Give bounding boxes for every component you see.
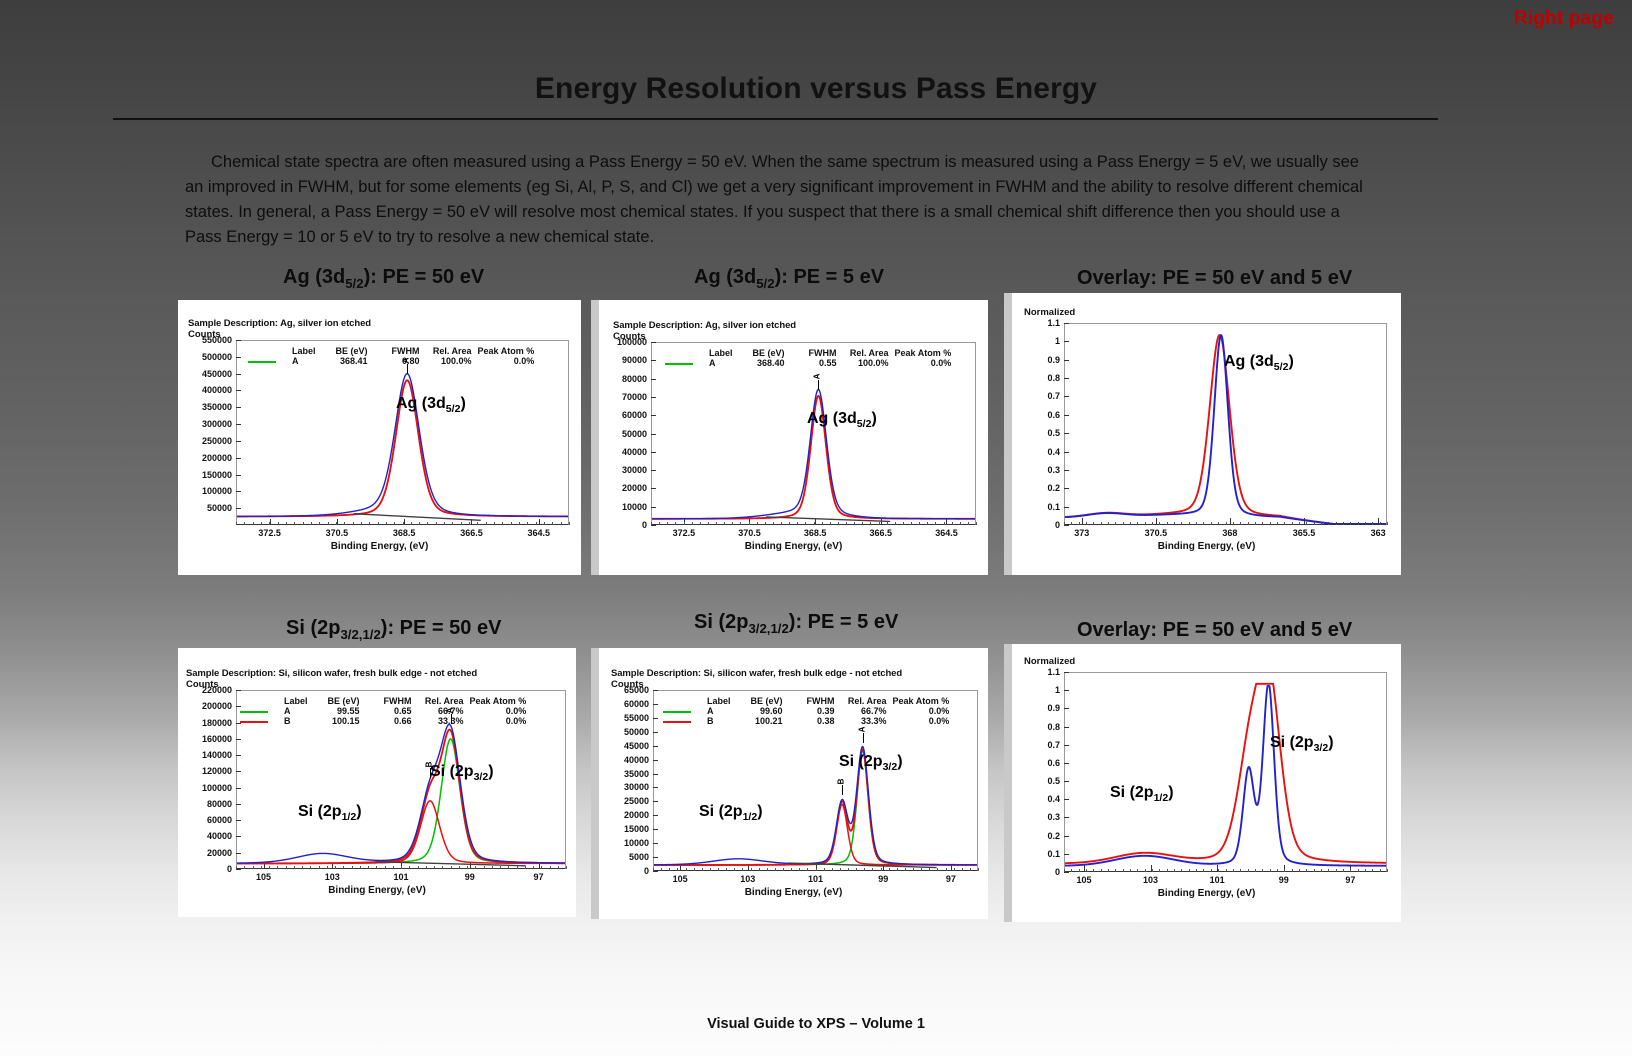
raw-spectrum-curve (237, 724, 565, 863)
y-tick-label: 400000 (184, 385, 232, 395)
y-tick-label: 180000 (184, 718, 232, 728)
y-tick-label: 0.2 (1024, 483, 1060, 493)
annot-text: ) (1328, 734, 1333, 751)
peak-marker-letter: A (857, 727, 866, 733)
x-tick-label: 101 (375, 872, 427, 882)
fit-envelope-curve (237, 730, 565, 864)
y-tick-label: 450000 (184, 369, 232, 379)
annot-text: ) (757, 803, 762, 820)
annot-text: Si (2p (1110, 784, 1154, 801)
spectrum-plot (652, 343, 975, 524)
y-tick-label: 350000 (184, 402, 232, 412)
caption-sub: 3/2,1/2 (340, 627, 380, 642)
y-tick-label: 0.3 (1024, 812, 1060, 822)
y-tick-label: 80000 (184, 799, 232, 809)
peak-annotation: Si (2p1/2) (699, 803, 763, 823)
caption-text: Si (2p (286, 617, 340, 639)
annot-sub: 3/2 (1314, 742, 1329, 754)
y-tick-label: 0.5 (1024, 776, 1060, 786)
x-tick-label: 99 (444, 872, 496, 882)
raw-spectrum-curve (652, 389, 975, 518)
y-tick-label: 90000 (599, 355, 647, 365)
y-tick-label: 0 (1024, 520, 1060, 530)
y-tick-label: 0.8 (1024, 373, 1060, 383)
x-minor-tick (978, 868, 979, 871)
y-tick-label: 65000 (601, 685, 649, 695)
x-tick-label: 372.5 (658, 528, 710, 538)
chart-card-ag-pe5: Sample Description: Ag, silver ion etche… (599, 300, 988, 575)
y-tick-label: 550000 (184, 335, 232, 345)
intro-paragraph: Chemical state spectra are often measure… (185, 150, 1377, 250)
y-tick-label: 160000 (184, 734, 232, 744)
y-tick-label: 20000 (184, 848, 232, 858)
x-tick-label: 364.5 (513, 528, 565, 538)
annot-text: Si (2p (839, 753, 883, 770)
y-tick-mark (1064, 525, 1069, 526)
y-tick-label: 20000 (599, 483, 647, 493)
y-tick-label: 45000 (601, 741, 649, 751)
x-axis-title: Binding Energy, (eV) (1012, 888, 1401, 899)
peak-annotation: Ag (3d5/2) (1224, 353, 1294, 373)
x-tick-label: 97 (513, 872, 565, 882)
fit-component-curve (237, 739, 565, 864)
peak-marker-tick (451, 714, 452, 724)
peak-annotation: Ag (3d5/2) (396, 395, 466, 415)
annot-text: Ag (3d (807, 410, 857, 427)
y-tick-label: 0.9 (1024, 703, 1060, 713)
y-tick-label: 40000 (599, 447, 647, 457)
x-tick-label: 370.5 (1130, 528, 1182, 538)
x-tick-label: 372.5 (244, 528, 296, 538)
annot-sub: 1/2 (743, 811, 758, 823)
x-axis-title: Binding Energy, (eV) (178, 885, 576, 896)
y-tick-label: 300000 (184, 419, 232, 429)
annot-sub: 3/2 (883, 761, 898, 773)
annot-text: ) (460, 395, 465, 412)
caption-si-pe50: Si (2p3/2,1/2): PE = 50 eV (286, 617, 501, 642)
x-tick-label: 105 (238, 872, 290, 882)
caption-text: Si (2p (694, 611, 748, 633)
y-tick-label: 50000 (601, 727, 649, 737)
annot-text: ) (1168, 784, 1173, 801)
annot-text: ) (488, 763, 493, 780)
x-tick-label: 368 (1204, 528, 1256, 538)
y-tick-label: 50000 (599, 429, 647, 439)
annot-sub: 5/2 (1274, 361, 1289, 373)
annot-sub: 5/2 (857, 418, 872, 430)
spectrum-plot (1065, 673, 1386, 871)
annot-text: Ag (3d (396, 395, 446, 412)
x-tick-label: 103 (722, 874, 774, 884)
x-tick-label: 373 (1056, 528, 1108, 538)
y-tick-label: 0.7 (1024, 740, 1060, 750)
y-tick-label: 30000 (599, 465, 647, 475)
y-tick-label: 100000 (184, 486, 232, 496)
x-axis-title: Binding Energy, (eV) (599, 887, 988, 898)
annot-text: Ag (3d (1224, 353, 1274, 370)
x-tick-label: 368.5 (789, 528, 841, 538)
y-tick-label: 25000 (601, 796, 649, 806)
peak-annotation: Si (2p3/2) (430, 763, 494, 783)
y-tick-label: 0.5 (1024, 428, 1060, 438)
caption-sub: 3/2,1/2 (748, 621, 788, 636)
x-tick-label: 370.5 (311, 528, 363, 538)
x-tick-label: 97 (925, 874, 977, 884)
peak-marker-tick (842, 785, 843, 795)
y-axis-name: Normalized (1024, 656, 1075, 667)
caption-text: ): PE = 5 eV (775, 266, 885, 288)
y-tick-label: 0 (184, 864, 232, 874)
y-tick-label: 0.6 (1024, 758, 1060, 768)
x-tick-label: 365.5 (1278, 528, 1330, 538)
y-tick-label: 220000 (184, 685, 232, 695)
y-tick-label: 40000 (184, 831, 232, 841)
chart-card-si-overlay: Normalized1.110.90.80.70.60.50.40.30.20.… (1012, 644, 1401, 922)
caption-text: ): PE = 50 eV (364, 266, 485, 288)
y-tick-label: 140000 (184, 750, 232, 760)
x-tick-label: 103 (1125, 875, 1177, 885)
y-tick-label: 500000 (184, 352, 232, 362)
footer-text: Visual Guide to XPS – Volume 1 (0, 1016, 1632, 1032)
x-minor-tick (1387, 869, 1388, 872)
y-tick-label: 60000 (184, 815, 232, 825)
page-title: Energy Resolution versus Pass Energy (0, 72, 1632, 106)
y-tick-label: 35000 (601, 769, 649, 779)
y-tick-label: 20000 (601, 810, 649, 820)
x-tick-label: 103 (306, 872, 358, 882)
y-tick-label: 250000 (184, 436, 232, 446)
y-tick-label: 0 (599, 520, 647, 530)
y-tick-label: 100000 (599, 337, 647, 347)
y-tick-label: 0.2 (1024, 831, 1060, 841)
x-minor-tick (569, 522, 570, 525)
peak-annotation: Si (2p1/2) (1110, 784, 1174, 804)
caption-text: ): PE = 50 eV (381, 617, 502, 639)
x-minor-tick (1387, 522, 1388, 525)
y-tick-mark (653, 871, 658, 872)
annot-text: ) (871, 410, 876, 427)
x-axis-title: Binding Energy, (eV) (599, 541, 988, 552)
y-tick-mark (1064, 872, 1069, 873)
peak-marker-letter: A (402, 358, 411, 364)
y-tick-label: 0.6 (1024, 410, 1060, 420)
y-tick-label: 0.7 (1024, 391, 1060, 401)
caption-si-pe5: Si (2p3/2,1/2): PE = 5 eV (694, 611, 898, 636)
fit-component-curve (237, 801, 565, 864)
y-tick-label: 0.8 (1024, 722, 1060, 732)
annot-sub: 5/2 (446, 403, 461, 415)
x-tick-label: 97 (1324, 875, 1376, 885)
peak-annotation: Ag (3d5/2) (807, 410, 877, 430)
y-tick-label: 0.1 (1024, 849, 1060, 859)
x-tick-label: 368.5 (378, 528, 430, 538)
annot-text: Si (2p (298, 803, 342, 820)
y-tick-label: 0.4 (1024, 794, 1060, 804)
x-tick-label: 105 (654, 874, 706, 884)
y-tick-label: 15000 (601, 824, 649, 834)
y-tick-label: 200000 (184, 701, 232, 711)
y-tick-label: 0.1 (1024, 502, 1060, 512)
sample-description: Sample Description: Si, silicon wafer, f… (186, 668, 477, 679)
caption-text: Ag (3d (694, 266, 756, 288)
caption-si-overlay: Overlay: PE = 50 eV and 5 eV (1077, 619, 1352, 642)
y-tick-label: 10000 (599, 502, 647, 512)
y-tick-label: 60000 (599, 410, 647, 420)
annot-text: ) (897, 753, 902, 770)
caption-ag-pe5: Ag (3d5/2): PE = 5 eV (694, 266, 884, 291)
y-tick-label: 55000 (601, 713, 649, 723)
y-tick-label: 60000 (601, 699, 649, 709)
y-tick-label: 30000 (601, 782, 649, 792)
sample-description: Sample Description: Si, silicon wafer, f… (611, 668, 902, 679)
y-tick-mark (651, 525, 656, 526)
spectrum-plot (237, 341, 568, 524)
y-tick-label: 1.1 (1024, 667, 1060, 677)
y-tick-label: 1 (1024, 685, 1060, 695)
chart-card-si-pe50: Sample Description: Si, silicon wafer, f… (178, 648, 576, 917)
y-tick-label: 120000 (184, 766, 232, 776)
peak-marker-tick (818, 380, 819, 390)
peak-marker-letter: B (836, 779, 845, 785)
sample-description: Sample Description: Ag, silver ion etche… (188, 318, 371, 329)
x-tick-label: 363 (1352, 528, 1404, 538)
annot-text: Si (2p (430, 763, 474, 780)
caption-sub: 5/2 (756, 276, 774, 291)
y-tick-label: 40000 (601, 755, 649, 765)
x-tick-label: 99 (857, 874, 909, 884)
spectrum-plot (237, 691, 565, 868)
x-tick-label: 99 (1258, 875, 1310, 885)
annot-sub: 1/2 (342, 811, 357, 823)
caption-ag-pe50: Ag (3d5/2): PE = 50 eV (283, 266, 484, 291)
y-axis-name: Normalized (1024, 307, 1075, 318)
y-tick-label: 200000 (184, 453, 232, 463)
annot-text: Si (2p (1270, 734, 1314, 751)
x-tick-label: 105 (1058, 875, 1110, 885)
y-tick-label: 10000 (601, 838, 649, 848)
x-tick-label: 366.5 (445, 528, 497, 538)
annot-sub: 1/2 (1154, 792, 1169, 804)
peak-marker-letter: A (813, 373, 822, 379)
y-tick-label: 0.3 (1024, 465, 1060, 475)
caption-ag-overlay: Overlay: PE = 50 eV and 5 eV (1077, 267, 1352, 290)
overlay-series-curve (1065, 684, 1386, 863)
y-tick-label: 5000 (601, 852, 649, 862)
x-tick-label: 370.5 (723, 528, 775, 538)
peak-annotation: Si (2p1/2) (298, 803, 362, 823)
y-tick-label: 1.1 (1024, 318, 1060, 328)
caption-text: Ag (3d (283, 266, 345, 288)
chart-card-ag-pe50: Sample Description: Ag, silver ion etche… (178, 300, 581, 575)
chart-card-ag-overlay: Normalized1.110.90.80.70.60.50.40.30.20.… (1012, 293, 1401, 575)
y-tick-label: 1 (1024, 336, 1060, 346)
caption-sub: 5/2 (345, 276, 363, 291)
y-tick-mark (236, 869, 241, 870)
annot-text: Si (2p (699, 803, 743, 820)
spectrum-plot (654, 691, 977, 870)
y-tick-label: 0.4 (1024, 447, 1060, 457)
y-tick-label: 150000 (184, 470, 232, 480)
x-tick-label: 366.5 (855, 528, 907, 538)
x-axis-title: Binding Energy, (eV) (1012, 541, 1401, 552)
y-tick-label: 70000 (599, 392, 647, 402)
annot-text: ) (356, 803, 361, 820)
y-tick-label: 0 (601, 866, 649, 876)
chart-card-si-pe5: Sample Description: Si, silicon wafer, f… (599, 648, 988, 919)
x-tick-label: 101 (790, 874, 842, 884)
peak-annotation: Si (2p3/2) (1270, 734, 1334, 754)
annot-text: ) (1288, 353, 1293, 370)
caption-text: ): PE = 5 eV (789, 611, 899, 633)
y-tick-label: 0.9 (1024, 355, 1060, 365)
x-axis-title: Binding Energy, (eV) (178, 541, 581, 552)
annot-sub: 3/2 (474, 771, 489, 783)
x-tick-label: 364.5 (920, 528, 972, 538)
sample-description: Sample Description: Ag, silver ion etche… (613, 320, 796, 331)
title-divider (113, 118, 1438, 120)
peak-marker-tick (407, 364, 408, 374)
right-page-label: Right page (1514, 8, 1614, 30)
x-minor-tick (566, 866, 567, 869)
y-tick-label: 50000 (184, 503, 232, 513)
y-tick-label: 0 (1024, 867, 1060, 877)
peak-annotation: Si (2p3/2) (839, 753, 903, 773)
x-tick-label: 101 (1191, 875, 1243, 885)
x-minor-tick (976, 522, 977, 525)
y-tick-label: 80000 (599, 374, 647, 384)
y-tick-label: 100000 (184, 783, 232, 793)
peak-marker-letter: A (445, 708, 454, 714)
peak-marker-tick (863, 733, 864, 743)
